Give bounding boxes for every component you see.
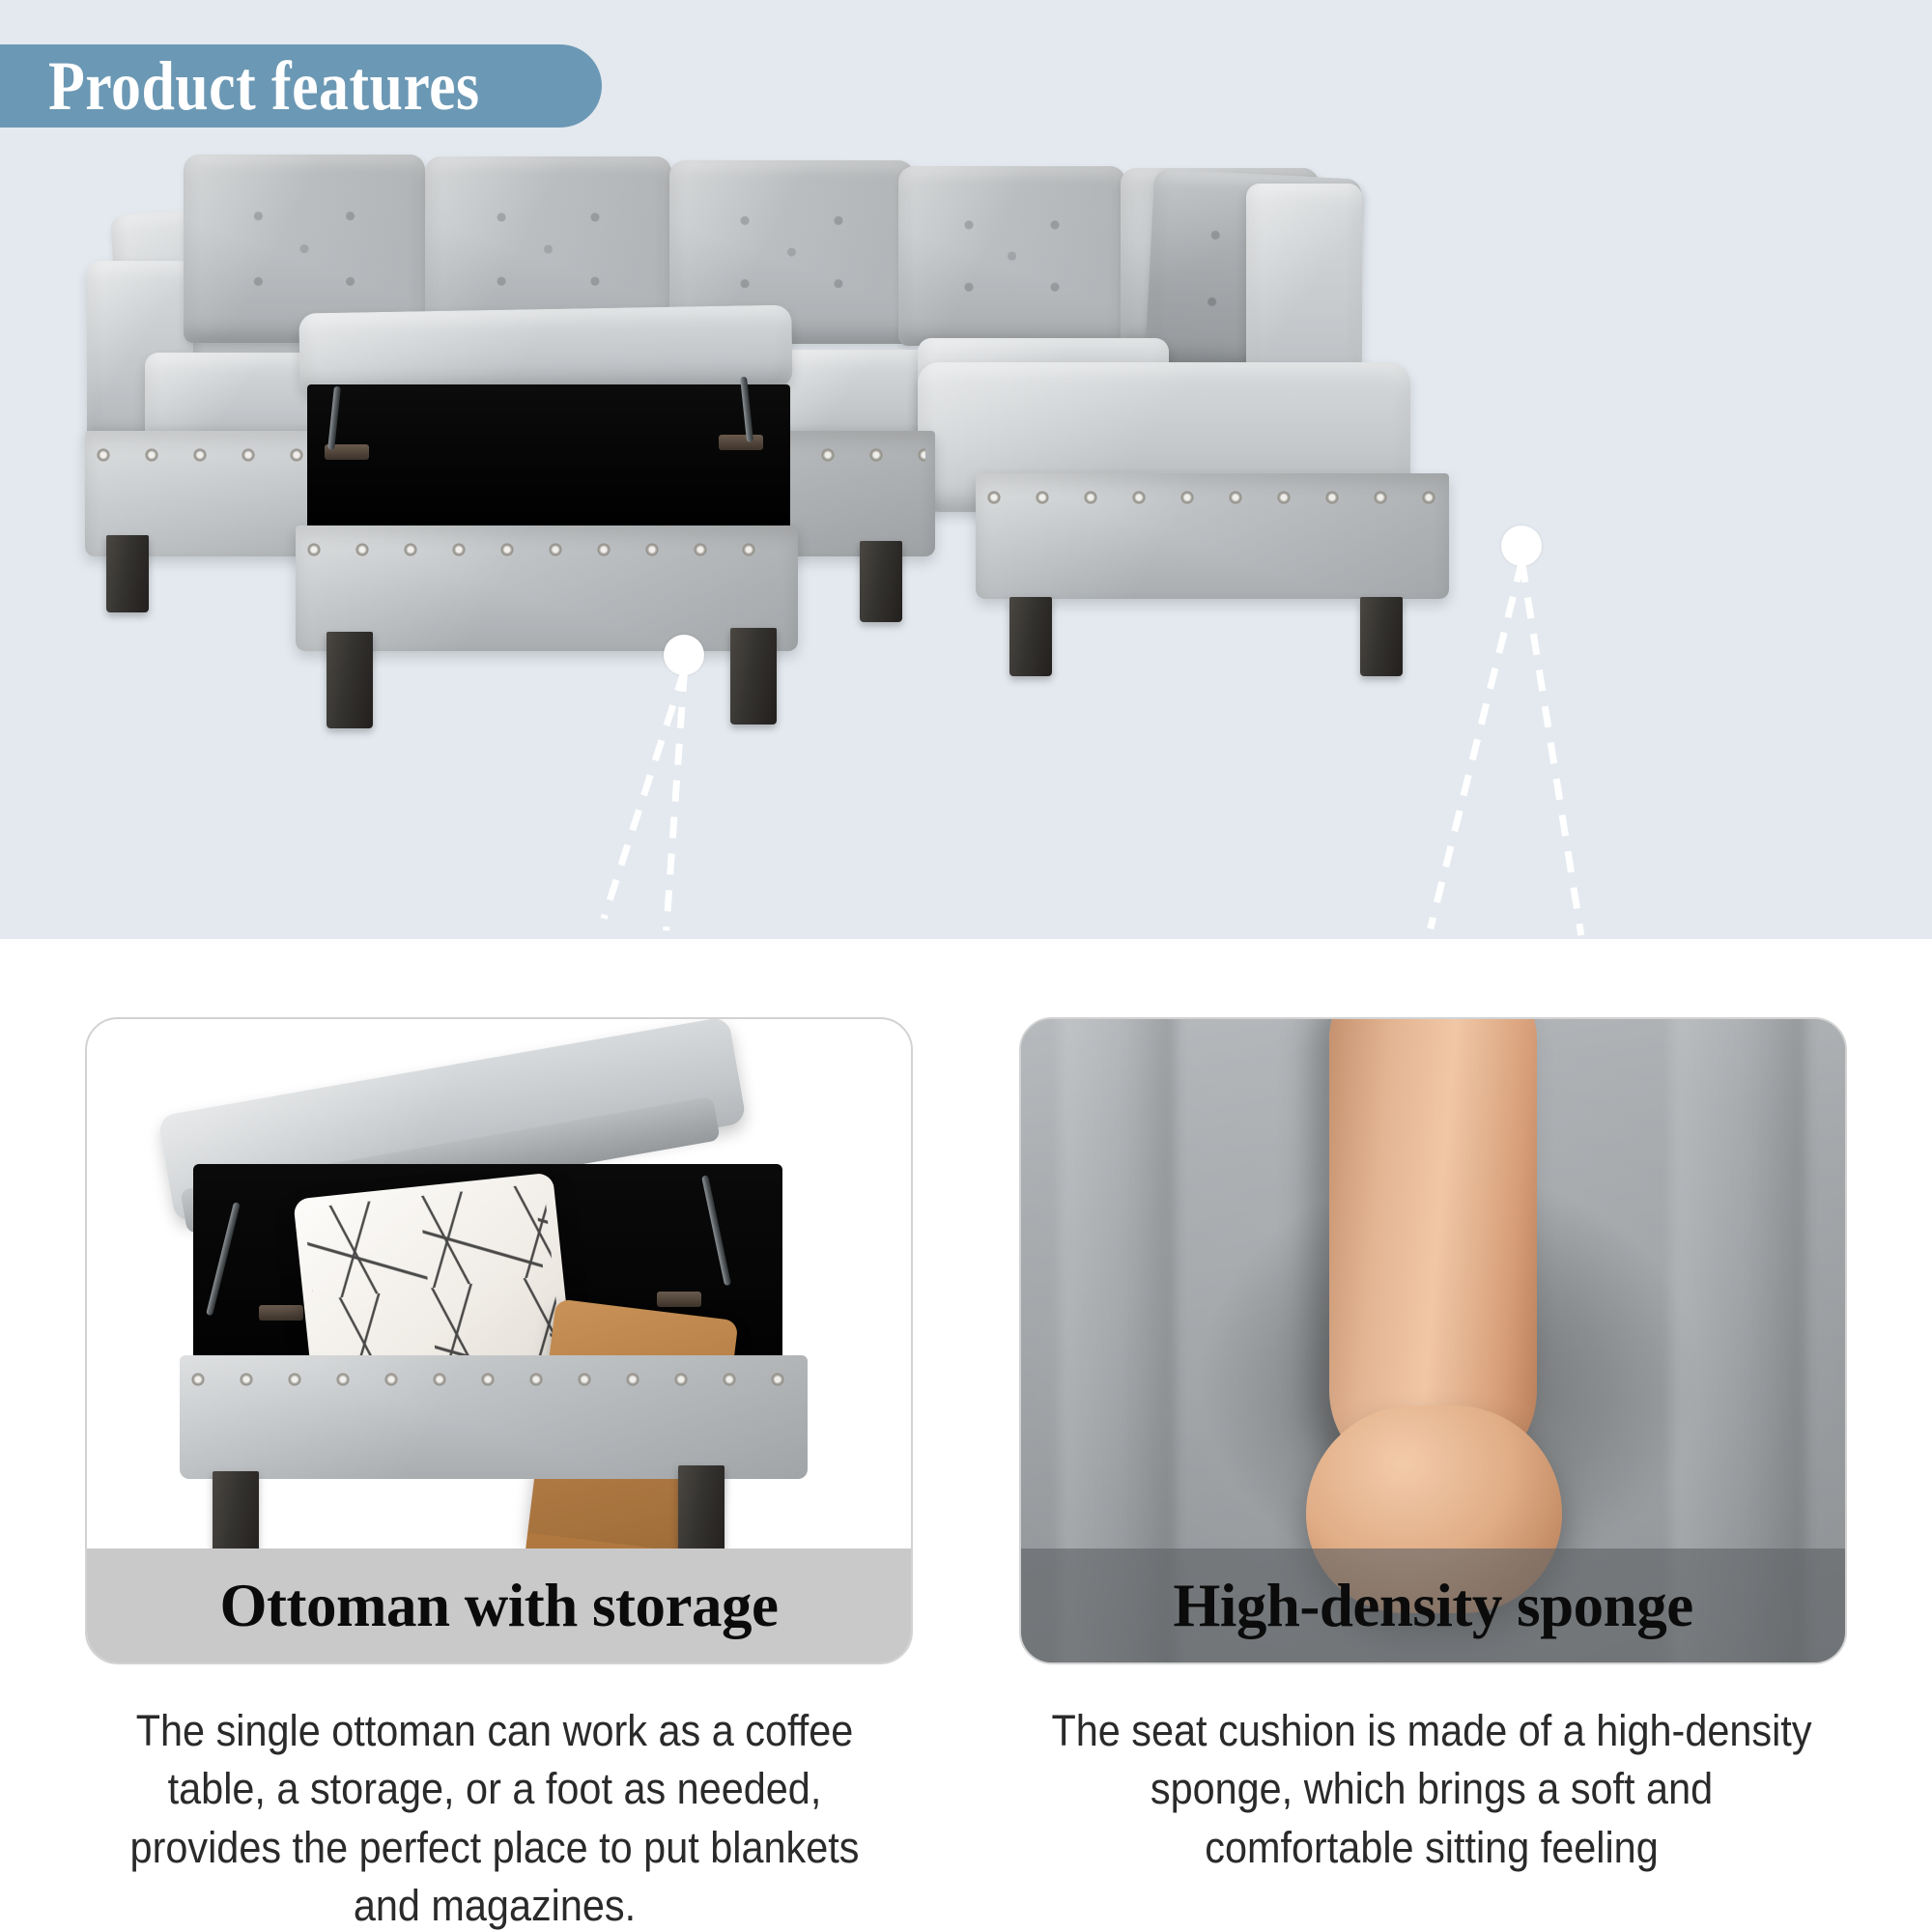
sofa-leg-front-right [860,541,902,622]
ottoman-card-hinge-left [259,1305,303,1321]
sofa-chaise-base [976,473,1449,599]
sofa-chaise-leg-left [1009,597,1052,676]
product-features-page: Product features [0,0,1932,1932]
sectional-sofa-photo [0,145,1932,908]
ottoman-leg-right [730,628,777,724]
ottoman-storage-cavity [307,384,790,533]
ottoman-with-storage-caption-band: Ottoman with storage [87,1548,911,1662]
ottoman-storage-callout-dot [664,635,704,675]
ottoman-card-nailhead-trim [189,1371,798,1388]
sofa-back-cushion-4 [898,166,1125,346]
seat-cushion-callout-dot [1501,526,1542,566]
high-density-sponge-caption-band: High-density sponge [1021,1548,1845,1662]
nailhead-trim-chaise [985,489,1439,506]
ottoman-with-storage-title: Ottoman with storage [220,1571,779,1641]
feature-cards-section: Ottoman with storage High-density sponge… [0,939,1932,1932]
ottoman-card-front-panel [180,1355,808,1479]
sofa-chaise-leg-right [1360,597,1403,676]
feature-card-high-density-sponge: High-density sponge [1019,1017,1847,1664]
feature-card-ottoman-with-storage: Ottoman with storage [85,1017,913,1664]
nailhead-trim-ottoman [305,541,788,558]
high-density-sponge-description: The seat cushion is made of a high-densi… [1040,1702,1823,1877]
ottoman-with-storage-description: The single ottoman can work as a coffee … [103,1702,886,1932]
high-density-sponge-title: High-density sponge [1173,1571,1692,1641]
ottoman-card-hinge-right [657,1292,701,1307]
ottoman-leg-left [327,632,373,728]
hero-section: Product features [0,0,1932,939]
ottoman-hinge-right [719,435,763,450]
page-title-banner: Product features [0,44,602,128]
sofa-leg-front-left [106,535,149,612]
ottoman-open-lid [298,305,792,397]
page-title: Product features [48,51,480,121]
